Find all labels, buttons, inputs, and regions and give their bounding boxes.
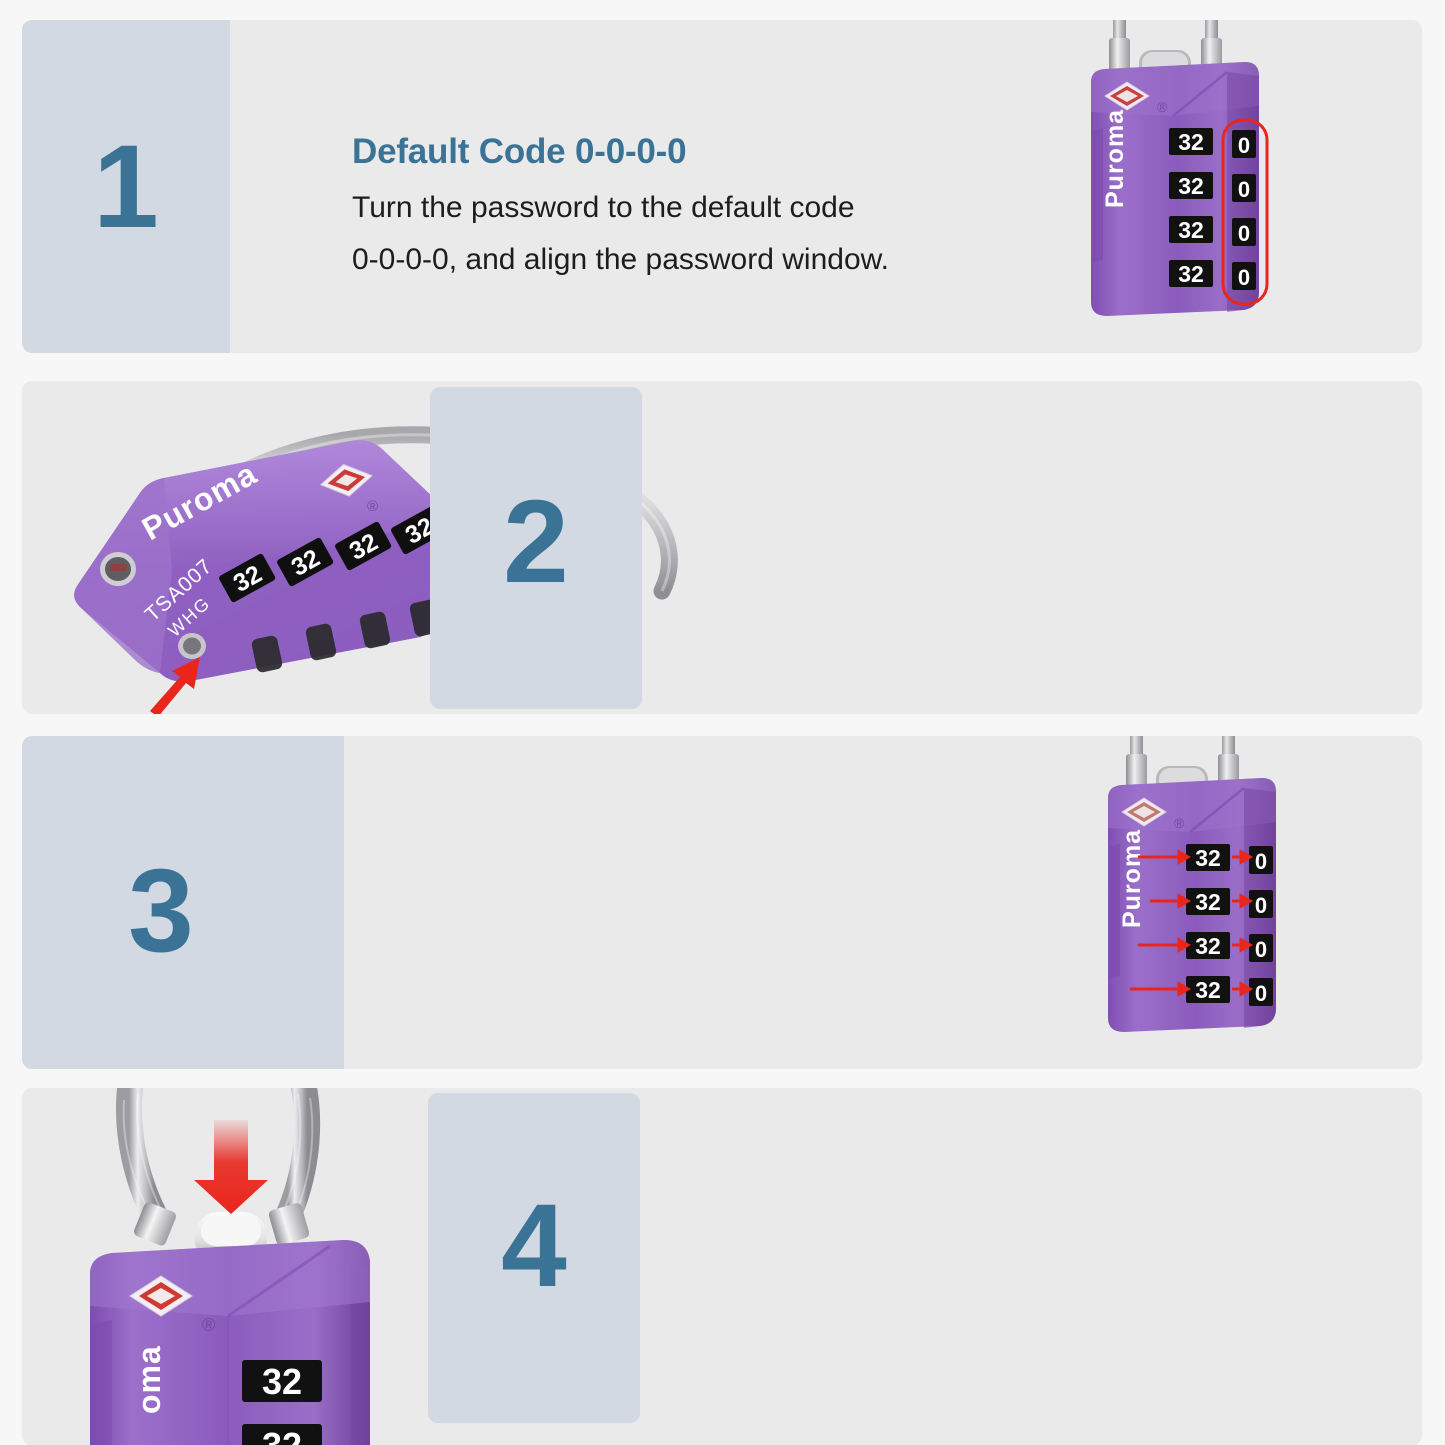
lock-image-4: ® oma 32 32 xyxy=(62,1088,462,1445)
svg-text:0: 0 xyxy=(1238,177,1250,202)
svg-text:32: 32 xyxy=(262,1425,302,1445)
step-body-line-1-1: Turn the password to the default code xyxy=(352,182,1052,234)
svg-text:0: 0 xyxy=(1255,893,1267,918)
svg-text:32: 32 xyxy=(1195,977,1221,1003)
step-number-3: 3 xyxy=(128,852,194,970)
svg-text:®: ® xyxy=(367,498,378,515)
step-title-1: Default Code 0-0-0-0 xyxy=(352,132,1052,172)
step-number-badge-2: 2 xyxy=(430,387,642,709)
svg-text:®: ® xyxy=(1157,99,1168,115)
step-panel-1: 1 Default Code 0-0-0-0 Turn the password… xyxy=(22,20,1422,353)
svg-text:0: 0 xyxy=(1238,133,1250,158)
svg-text:32: 32 xyxy=(1195,889,1221,915)
svg-text:32: 32 xyxy=(1178,217,1204,243)
brand-text-partial: oma xyxy=(131,1345,167,1414)
lock-image-1: ® Puroma 32 0 32 0 32 xyxy=(1077,20,1317,353)
svg-text:32: 32 xyxy=(1178,129,1204,155)
step-number-4: 4 xyxy=(501,1187,567,1305)
brand-text: Puroma xyxy=(1118,829,1146,928)
svg-text:0: 0 xyxy=(1238,221,1250,246)
infographic-page: 1 Default Code 0-0-0-0 Turn the password… xyxy=(0,0,1445,1445)
step-panel-4: ® oma 32 32 4 Release the Reset Button A… xyxy=(22,1088,1422,1445)
svg-text:®: ® xyxy=(202,1315,215,1335)
svg-text:0: 0 xyxy=(1255,981,1267,1006)
step-number-badge-3: 3 xyxy=(22,736,344,1069)
step-panel-2: TSA007 WHG ® Puroma xyxy=(22,381,1422,714)
svg-text:32: 32 xyxy=(1178,261,1204,287)
step-text-1: Default Code 0-0-0-0 Turn the password t… xyxy=(352,132,1052,285)
lock-image-3: ® Puroma 32 0 32 0 32 0 32 xyxy=(1094,736,1334,1069)
step-number-badge-4: 4 xyxy=(428,1093,640,1423)
svg-text:32: 32 xyxy=(262,1361,302,1402)
step-number-2: 2 xyxy=(503,483,569,601)
step-body-line-1-2: 0-0-0-0, and align the password window. xyxy=(352,234,1052,286)
svg-text:0: 0 xyxy=(1255,849,1267,874)
step-number-badge-1: 1 xyxy=(22,20,230,353)
brand-text: Puroma xyxy=(1101,109,1129,208)
step-number-1: 1 xyxy=(93,128,159,246)
svg-text:32: 32 xyxy=(1195,933,1221,959)
svg-text:32: 32 xyxy=(1195,845,1221,871)
step-panel-3: 3 Set Your Combination Now the password … xyxy=(22,736,1422,1069)
svg-text:®: ® xyxy=(1174,815,1185,831)
svg-text:32: 32 xyxy=(1178,173,1204,199)
svg-text:0: 0 xyxy=(1255,937,1267,962)
red-arrow-down-icon xyxy=(194,1120,268,1214)
svg-text:0: 0 xyxy=(1238,265,1250,290)
